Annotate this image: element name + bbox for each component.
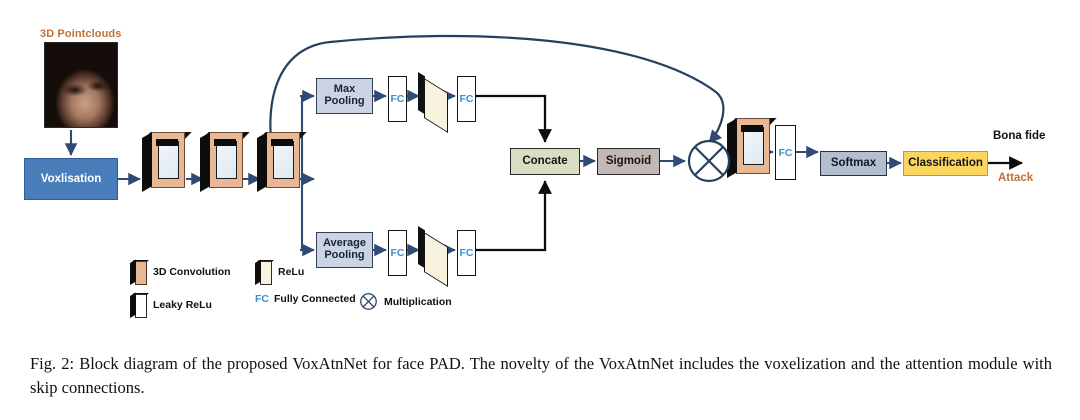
legend-item-multiplication: Multiplication: [360, 293, 452, 310]
conv-window: [743, 127, 764, 165]
classification-block[interactable]: Classification: [903, 151, 988, 176]
figure-canvas: 3D Pointclouds Voxlisation Max Pooling A…: [0, 0, 1080, 420]
legend-item-fully-connected: FC Fully Connected: [255, 293, 356, 305]
conv-inner-bar: [156, 139, 178, 146]
bona-fide-output-label: Bona fide: [993, 130, 1045, 142]
conv3d-icon: [130, 260, 146, 284]
conv-inner-bar: [214, 139, 236, 146]
voxelisation-block[interactable]: Voxlisation: [24, 158, 118, 200]
softmax-block[interactable]: Softmax: [820, 151, 887, 176]
fully-connected-top-2[interactable]: FC: [457, 76, 476, 122]
multiplication-legend-icon: [360, 293, 377, 310]
attack-output-label: Attack: [998, 172, 1033, 184]
legend: 3D Convolution ReLu Leaky ReLu FC Fully …: [130, 260, 490, 320]
legend-label-multiplication: Multiplication: [384, 296, 452, 308]
leaky-relu-icon: [130, 293, 146, 317]
fc-icon: FC: [255, 293, 269, 305]
legend-item-leaky-relu: Leaky ReLu: [130, 293, 212, 317]
figure-caption: Fig. 2: Block diagram of the proposed Vo…: [30, 352, 1052, 400]
sigmoid-block[interactable]: Sigmoid: [597, 148, 660, 175]
legend-item-conv3d: 3D Convolution: [130, 260, 231, 284]
legend-label-leaky-relu: Leaky ReLu: [153, 299, 212, 311]
legend-label-relu: ReLu: [278, 266, 304, 278]
conv-inner-bar: [271, 139, 293, 146]
conv3d-block-1[interactable]: [142, 132, 188, 198]
fully-connected-top-1[interactable]: FC: [388, 76, 407, 122]
multiplication-icon[interactable]: [687, 139, 731, 183]
legend-label-fully-connected: Fully Connected: [274, 293, 356, 305]
conv-side-face: [142, 132, 152, 192]
fully-connected-final[interactable]: FC: [775, 125, 796, 180]
conv-inner-bar: [741, 125, 763, 132]
conv-side-face: [257, 132, 267, 192]
conv3d-block-2[interactable]: [200, 132, 246, 198]
conv3d-block-4[interactable]: [727, 118, 777, 190]
conv-window: [273, 141, 294, 179]
concate-block[interactable]: Concate: [510, 148, 580, 175]
relu-icon: [255, 260, 271, 284]
relu-block-top[interactable]: [418, 72, 452, 124]
conv-side-face: [200, 132, 210, 192]
conv-window: [158, 141, 179, 179]
conv-window: [216, 141, 237, 179]
legend-item-relu: ReLu: [255, 260, 304, 284]
legend-label-conv3d: 3D Convolution: [153, 266, 231, 278]
pointcloud-label: 3D Pointclouds: [40, 28, 121, 40]
face-pointcloud-image: [44, 42, 118, 128]
conv3d-block-3[interactable]: [257, 132, 303, 198]
max-pooling-block[interactable]: Max Pooling: [316, 78, 373, 114]
